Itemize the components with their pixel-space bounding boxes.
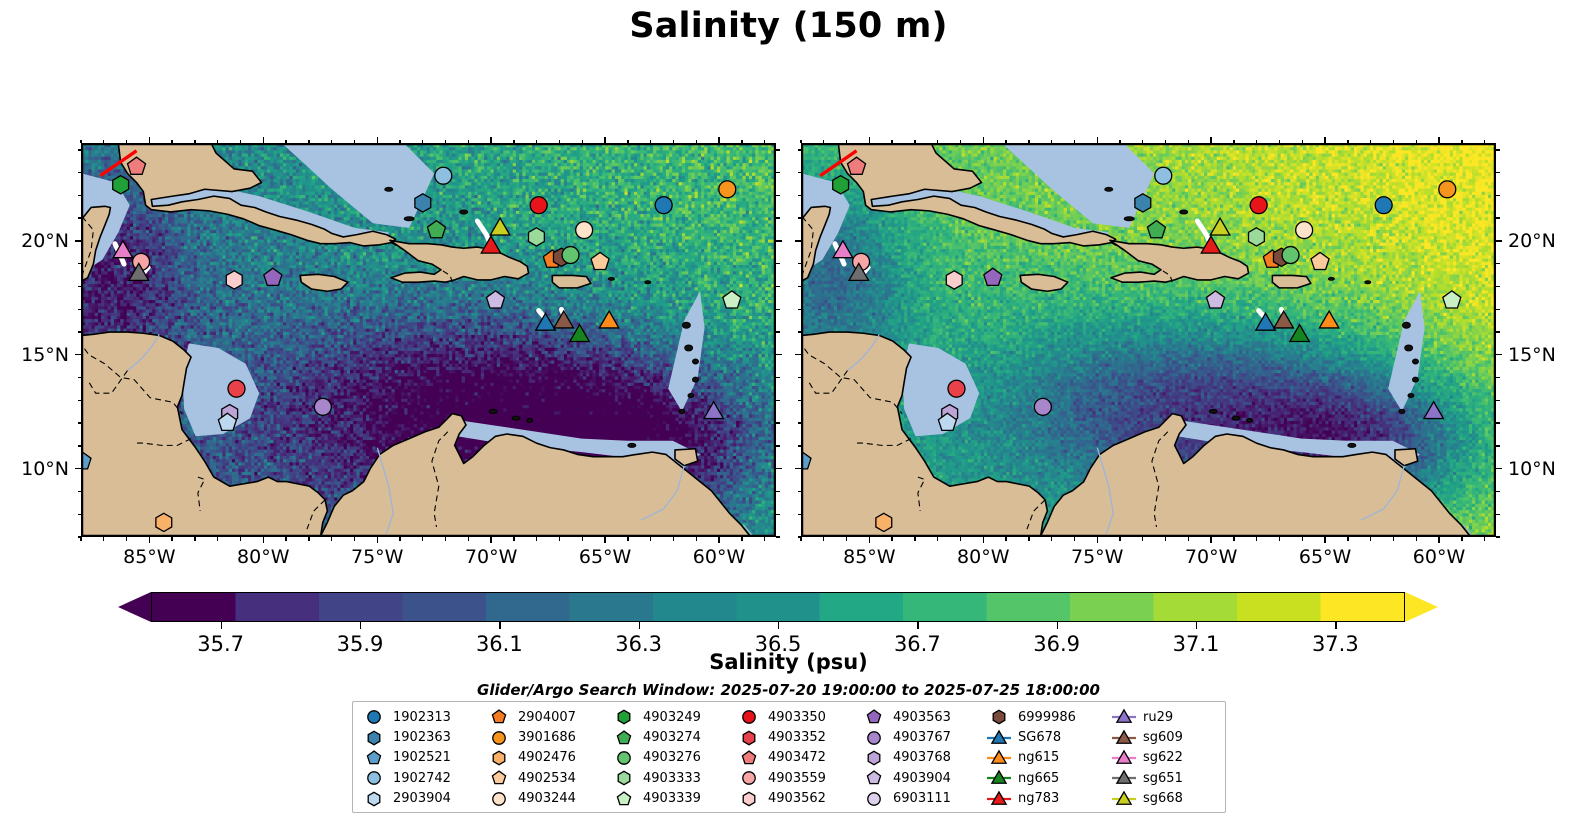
lon-tick [604, 537, 605, 543]
lon-tick-top [490, 137, 491, 143]
legend-item-4903276[interactable]: 4903276 [611, 748, 736, 768]
lat-tick-right [776, 331, 780, 332]
legend-label: 4903249 [643, 711, 701, 724]
platform-marker-6999986 [993, 710, 1005, 723]
legend-item-4903472[interactable]: 4903472 [736, 748, 861, 768]
lon-tick [1233, 537, 1234, 541]
lon-tick-top [1393, 140, 1394, 144]
legend-label: 4903562 [768, 792, 826, 805]
legend-label: 4903276 [643, 751, 701, 764]
lon-tick-top [1028, 140, 1029, 144]
lat-tick-right [1496, 172, 1500, 173]
lon-tick-top [1484, 140, 1485, 144]
colorbar-tick [499, 622, 500, 629]
lon-tick [627, 537, 628, 541]
lon-tick-top [582, 140, 583, 144]
lon-tick [285, 537, 286, 541]
lat-tick-right [1496, 468, 1502, 469]
lon-tick [914, 537, 915, 541]
lon-tick [354, 537, 355, 541]
lat-tick [798, 445, 802, 446]
lon-tick [937, 537, 938, 541]
lat-tick-right [1496, 240, 1502, 241]
lon-ticklabel: 65°W [1299, 546, 1351, 568]
lon-tick-top [103, 140, 104, 144]
platform-marker-1902742 [368, 772, 380, 784]
legend-item-4903767[interactable]: 4903767 [861, 727, 986, 747]
lat-tick-right [776, 172, 780, 173]
lon-tick-top [1416, 140, 1417, 144]
lon-tick-top [1188, 140, 1189, 144]
lon-tick-top [559, 140, 560, 144]
legend-item-SG678[interactable]: SG678 [986, 727, 1111, 747]
platform-marker-4903352 [228, 380, 245, 397]
lon-tick [1188, 537, 1189, 541]
colorbar-tick [1196, 622, 1197, 629]
lon-tick-top [1324, 137, 1325, 143]
legend-item-4903350[interactable]: 4903350 [736, 707, 861, 727]
lon-tick-top [696, 140, 697, 144]
platform-marker-2903904 [368, 792, 380, 805]
lat-tick [78, 217, 82, 218]
lat-tick-right [776, 514, 780, 515]
platform-marker-4903768 [868, 751, 880, 764]
lon-ticklabel: 80°W [957, 546, 1009, 568]
platform-marker-4903472 [742, 751, 755, 764]
legend-marker-triangle-icon [1111, 769, 1137, 787]
legend-marker-circle-icon [361, 769, 387, 787]
lon-tick [1484, 537, 1485, 541]
legend-item-1902363[interactable]: 1902363 [361, 727, 486, 747]
platform-marker-1902521 [367, 751, 380, 764]
lon-tick-top [846, 140, 847, 144]
lon-tick-top [377, 137, 378, 143]
lat-tick [798, 263, 802, 264]
legend-marker-circle-icon [736, 769, 762, 787]
lat-tick-right [776, 422, 780, 423]
lon-tick [741, 537, 742, 541]
lat-tick-right [1496, 331, 1500, 332]
platform-marker-1902313 [655, 197, 672, 214]
legend-label: SG678 [1018, 731, 1061, 744]
legend-marker-hexagon-icon [611, 769, 637, 787]
legend-marker-pentagon-icon [736, 749, 762, 767]
lon-ticklabel: 60°W [1413, 546, 1465, 568]
lat-tick [78, 377, 82, 378]
legend-item-sg609[interactable]: sg609 [1111, 727, 1236, 747]
legend-marker-triangle-icon [986, 769, 1012, 787]
lon-tick-top [1142, 140, 1143, 144]
lon-tick-top [468, 140, 469, 144]
lon-tick [217, 537, 218, 541]
legend-label: 4903768 [893, 751, 951, 764]
platform-marker-4903249 [833, 176, 849, 194]
colorbar-tick [1057, 622, 1058, 629]
legend-label: 4903333 [643, 772, 701, 785]
lon-tick-top [914, 140, 915, 144]
legend-marker-triangle-icon [1111, 790, 1137, 808]
lat-tick-right [1496, 491, 1500, 492]
lon-tick [149, 537, 150, 543]
lon-tick [1461, 537, 1462, 541]
lon-tick [1302, 537, 1303, 541]
platform-marker-4903904 [867, 771, 880, 784]
lat-tick [798, 400, 802, 401]
legend-item-ru29[interactable]: ru29 [1111, 707, 1236, 727]
lon-tick-top [1438, 137, 1439, 143]
lon-tick [308, 537, 309, 541]
legend-item-sg668[interactable]: sg668 [1111, 789, 1236, 809]
legend-item-4903562[interactable]: 4903562 [736, 789, 861, 809]
legend-item-6999986[interactable]: 6999986 [986, 707, 1111, 727]
lon-tick [331, 537, 332, 541]
lon-tick [1028, 537, 1029, 541]
lon-tick-top [354, 140, 355, 144]
lon-tick-top [149, 137, 150, 143]
lon-tick-top [960, 140, 961, 144]
legend-marker-triangle-icon [986, 790, 1012, 808]
lat-tick-right [1496, 149, 1500, 150]
platform-marker-4903244 [493, 793, 505, 805]
legend-label: ng783 [1018, 792, 1059, 805]
lat-tick-right [1496, 377, 1500, 378]
lat-tick-right [776, 377, 780, 378]
lat-tick-right [1496, 286, 1500, 287]
lon-tick [764, 537, 765, 541]
legend-marker-hexagon-icon [361, 790, 387, 808]
lon-tick-top [823, 140, 824, 144]
legend-label: 4903904 [893, 772, 951, 785]
lon-tick-top [285, 140, 286, 144]
lon-tick-top [399, 140, 400, 144]
colorbar: 35.735.936.136.336.536.736.937.137.3 [118, 592, 1438, 622]
colorbar-tick [778, 622, 779, 629]
legend-item-4903274[interactable]: 4903274 [611, 727, 736, 747]
lon-ticklabel: 85°W [843, 546, 895, 568]
platform-marker-6903111 [868, 793, 880, 805]
lat-tick-right [776, 217, 780, 218]
lon-tick-top [308, 140, 309, 144]
lat-ticklabel-left: 15°N [21, 344, 69, 366]
map-panel-rtofs: RTOFS - 2025-07-25 18:00:00 [81, 143, 776, 537]
lat-tick [78, 331, 82, 332]
lon-tick-top [650, 140, 651, 144]
lon-tick [1142, 537, 1143, 541]
lat-tick [798, 377, 802, 378]
platform-marker-1902313 [1375, 197, 1392, 214]
legend-marker-pentagon-icon [861, 708, 887, 726]
legend-item-sg651[interactable]: sg651 [1111, 768, 1236, 788]
lat-tick [798, 422, 802, 423]
legend-label: ng665 [1018, 772, 1059, 785]
rtofs-salinity-map [82, 144, 775, 536]
lat-tick [78, 491, 82, 492]
lon-tick [513, 537, 514, 541]
lon-tick-top [1302, 140, 1303, 144]
lon-tick [126, 537, 127, 541]
legend-label: 6903111 [893, 792, 951, 805]
legend-marker-pentagon-icon [611, 790, 637, 808]
platform-marker-4903333 [1249, 228, 1265, 246]
platform-marker-4903767 [314, 398, 331, 415]
legend-label: 4903563 [893, 711, 951, 724]
legend-label: 4903352 [768, 731, 826, 744]
lon-tick [1165, 537, 1166, 541]
lon-tick [960, 537, 961, 541]
lon-tick [377, 537, 378, 543]
legend-item-1902521[interactable]: 1902521 [361, 748, 486, 768]
lon-tick [399, 537, 400, 541]
lon-tick-top [800, 140, 801, 144]
legend-item-4903768[interactable]: 4903768 [861, 748, 986, 768]
legend-label: sg622 [1143, 751, 1183, 764]
platform-marker-4902476 [156, 513, 172, 531]
platform-marker-4902476 [493, 751, 505, 764]
platform-marker-1902313 [368, 711, 380, 723]
legend-marker-hexagon-icon [361, 729, 387, 747]
lon-tick-top [1119, 140, 1120, 144]
legend-marker-triangle-icon [1111, 708, 1137, 726]
platform-marker-4903276 [1282, 247, 1299, 264]
lon-tick [823, 537, 824, 541]
legend-item-1902313[interactable]: 1902313 [361, 707, 486, 727]
colorbar-extend-high [1405, 592, 1438, 622]
platform-marker-4903276 [618, 752, 630, 764]
colorbar-extend-low [118, 592, 151, 622]
colorbar-tick [360, 622, 361, 629]
legend-marker-pentagon-icon [861, 769, 887, 787]
lon-tick-top [536, 140, 537, 144]
platform-marker-4903350 [743, 711, 755, 723]
lat-tick [78, 309, 82, 310]
legend-marker-circle-icon [486, 790, 512, 808]
legend-label: 4903472 [768, 751, 826, 764]
lon-tick [240, 537, 241, 541]
lat-tick [798, 217, 802, 218]
lon-tick-top [937, 140, 938, 144]
lat-tick [798, 514, 802, 515]
legend-item-4903249[interactable]: 4903249 [611, 707, 736, 727]
legend-item-4903339[interactable]: 4903339 [611, 789, 736, 809]
platform-marker-4903350 [530, 197, 547, 214]
lat-tick [78, 172, 82, 173]
legend-item-3901686[interactable]: 3901686 [486, 727, 611, 747]
platform-marker-4903767 [868, 731, 880, 743]
lat-tick-right [1496, 536, 1500, 537]
figure-suptitle: Salinity (150 m) [0, 6, 1577, 46]
platform-marker-4903352 [948, 380, 965, 397]
legend-marker-triangle-icon [1111, 749, 1137, 767]
legend-marker-hexagon-icon [736, 729, 762, 747]
lon-tick [673, 537, 674, 541]
lon-tick-top [194, 140, 195, 144]
legend-title: Glider/Argo Search Window: 2025-07-20 19… [0, 681, 1577, 699]
lon-tick-top [1233, 140, 1234, 144]
lon-tick-top [126, 140, 127, 144]
legend-grid: 1902313290400749032494903350490356369999… [361, 707, 1236, 809]
lat-ticklabel-left: 20°N [21, 230, 69, 252]
lon-ticklabel: 70°W [465, 546, 517, 568]
lat-tick [795, 240, 801, 241]
legend-item-sg622[interactable]: sg622 [1111, 748, 1236, 768]
lat-tick-right [1496, 422, 1500, 423]
legend-marker-hexagon-icon [736, 790, 762, 808]
legend-item-6903111[interactable]: 6903111 [861, 789, 986, 809]
legend-label: 6999986 [1018, 711, 1076, 724]
lat-tick [75, 468, 81, 469]
platform-marker-4903562 [743, 792, 755, 805]
legend-item-4903904[interactable]: 4903904 [861, 768, 986, 788]
legend-marker-circle-icon [861, 729, 887, 747]
lon-tick-top [80, 140, 81, 144]
platform-marker-4903563 [867, 710, 880, 723]
lon-ticklabel: 60°W [693, 546, 745, 568]
lat-tick-right [1496, 400, 1500, 401]
lat-ticklabel-right: 20°N [1508, 230, 1556, 252]
lat-tick-right [776, 354, 782, 355]
lon-tick [891, 537, 892, 541]
legend-marker-hexagon-icon [611, 708, 637, 726]
lat-tick-right [1496, 195, 1500, 196]
legend-item-4902534[interactable]: 4902534 [486, 768, 611, 788]
legend-item-4903352[interactable]: 4903352 [736, 727, 861, 747]
lon-tick-top [1279, 140, 1280, 144]
legend-label: ng615 [1018, 751, 1059, 764]
lat-tick [798, 286, 802, 287]
lon-tick [582, 537, 583, 541]
platform-marker-4903249 [618, 710, 630, 723]
lat-tick [78, 445, 82, 446]
legend-marker-pentagon-icon [486, 769, 512, 787]
legend-item-ng665[interactable]: ng665 [986, 768, 1111, 788]
platform-marker-4903333 [529, 228, 545, 246]
lon-tick [445, 537, 446, 541]
colorbar-label: Salinity (psu) [0, 650, 1577, 674]
lon-tick [1256, 537, 1257, 541]
lon-tick [559, 537, 560, 541]
legend-marker-circle-icon [736, 708, 762, 726]
colorbar-tick [221, 622, 222, 629]
legend-label: 4903339 [643, 792, 701, 805]
lon-tick [718, 537, 719, 543]
legend-label: sg651 [1143, 772, 1183, 785]
lat-tick [795, 354, 801, 355]
colorbar-tick [1335, 622, 1336, 629]
platform-marker-4903244 [576, 222, 593, 239]
lon-tick-top [1461, 140, 1462, 144]
lat-ticklabel-left: 10°N [21, 458, 69, 480]
legend-label: 4903767 [893, 731, 951, 744]
lat-tick-right [776, 491, 780, 492]
legend-label: 1902363 [393, 731, 451, 744]
legend-marker-hexagon-icon [486, 749, 512, 767]
platform-marker-3901686 [1439, 181, 1456, 198]
lon-tick-top [627, 140, 628, 144]
legend-item-4903559[interactable]: 4903559 [736, 768, 861, 788]
legend-item-ng783[interactable]: ng783 [986, 789, 1111, 809]
legend-item-ng615[interactable]: ng615 [986, 748, 1111, 768]
lon-tick [1438, 537, 1439, 543]
platform-marker-4903767 [1034, 398, 1051, 415]
legend-item-2904007[interactable]: 2904007 [486, 707, 611, 727]
platform-marker-4902534 [492, 771, 505, 784]
colorbar-tick [917, 622, 918, 629]
map-panel-cmems: CMEMS - 2025-07-25 18:00:00 [801, 143, 1496, 537]
lat-ticklabel-right: 15°N [1508, 344, 1556, 366]
legend-label: 4902534 [518, 772, 576, 785]
lon-tick-top [1005, 140, 1006, 144]
lon-tick-top [1165, 140, 1166, 144]
lon-tick [846, 537, 847, 541]
lon-tick [263, 537, 264, 543]
lat-tick-right [776, 195, 780, 196]
legend-marker-circle-icon [486, 729, 512, 747]
lat-tick [798, 491, 802, 492]
legend-item-1902742[interactable]: 1902742 [361, 768, 486, 788]
lon-tick-top [741, 140, 742, 144]
legend-label: 3901686 [518, 731, 576, 744]
legend-item-2903904[interactable]: 2903904 [361, 789, 486, 809]
lat-tick-right [776, 309, 780, 310]
platform-marker-4903339 [617, 792, 630, 805]
lon-tick-top [217, 140, 218, 144]
platform-marker-4903350 [1250, 197, 1267, 214]
lon-tick-top [1256, 140, 1257, 144]
lon-tick [1370, 537, 1371, 541]
lat-tick-right [1496, 514, 1500, 515]
platform-marker-4903562 [226, 271, 242, 289]
platform-marker-1902363 [368, 731, 380, 744]
legend-marker-pentagon-icon [611, 729, 637, 747]
lat-tick [798, 172, 802, 173]
platform-marker-4903333 [618, 772, 630, 785]
lon-tick-top [1210, 137, 1211, 143]
lat-tick [75, 354, 81, 355]
legend-item-4903333[interactable]: 4903333 [611, 768, 736, 788]
legend-marker-hexagon-icon [986, 708, 1012, 726]
platform-marker-4903249 [113, 176, 129, 194]
legend-marker-triangle-icon [1111, 729, 1137, 747]
legend-marker-hexagon-icon [861, 749, 887, 767]
legend-label: 1902521 [393, 751, 451, 764]
lat-tick [798, 195, 802, 196]
platform-marker-4903352 [743, 731, 755, 744]
colorbar-gradient [151, 592, 1405, 622]
platform-marker-4903276 [562, 247, 579, 264]
lat-tick-right [776, 536, 780, 537]
lat-tick [75, 240, 81, 241]
legend-box: 1902313290400749032494903350490356369999… [352, 701, 1226, 813]
legend-item-4903563[interactable]: 4903563 [861, 707, 986, 727]
legend-item-4903244[interactable]: 4903244 [486, 789, 611, 809]
legend-item-4902476[interactable]: 4902476 [486, 748, 611, 768]
lon-tick-top [1347, 140, 1348, 144]
lon-tick [171, 537, 172, 541]
lon-ticklabel: 85°W [123, 546, 175, 568]
platform-marker-1902363 [1135, 194, 1151, 212]
lon-tick-top [445, 140, 446, 144]
lon-tick [1347, 537, 1348, 541]
lon-tick [103, 537, 104, 541]
platform-marker-4903244 [1296, 222, 1313, 239]
lon-tick [696, 537, 697, 541]
lon-tick [1416, 537, 1417, 541]
legend-marker-pentagon-icon [486, 708, 512, 726]
platform-marker-3901686 [719, 181, 736, 198]
platform-marker-4903559 [743, 772, 755, 784]
lon-tick-top [604, 137, 605, 143]
lon-tick [1005, 537, 1006, 541]
